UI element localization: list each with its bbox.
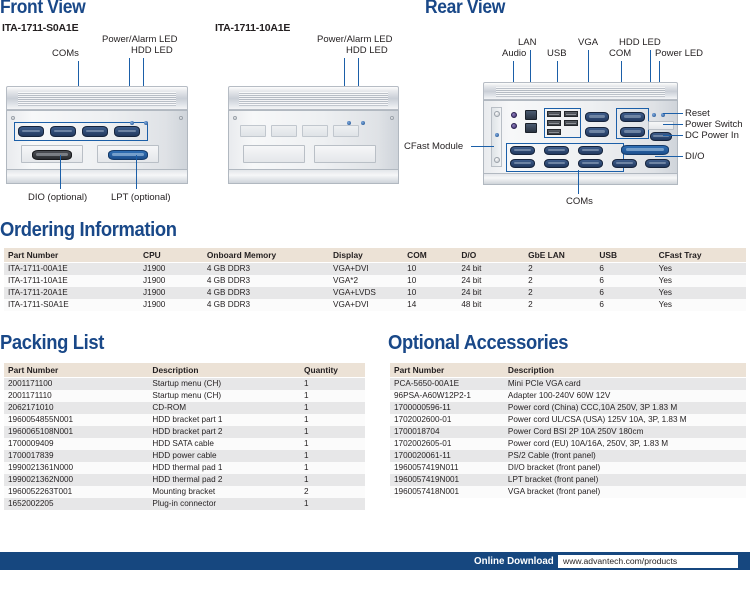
callout-rear-cfast-module: CFast Module (404, 141, 463, 152)
table-row: PCA-5650-00A1EMini PCIe VGA card (390, 378, 746, 391)
table-row: ITA-1711-00A1EJ19004 GB DDR3VGA+DVI1024 … (4, 263, 746, 276)
callout-rear-vga: VGA (578, 37, 598, 48)
accessory-col-header: Part Number (390, 363, 504, 378)
packing-cell: HDD SATA cable (148, 438, 300, 450)
vga-port-1 (585, 112, 609, 122)
ordering-cell: Yes (655, 299, 746, 311)
rear-dio-connector (621, 145, 669, 155)
rear-coms-port-5 (544, 159, 569, 168)
callout-rear-hdd-led: HDD LED (619, 37, 661, 48)
accessory-cell: 96PSA-A60W12P2-1 (390, 390, 504, 402)
leader-line-lpt (136, 155, 137, 189)
packing-col-header: Quantity (300, 363, 365, 378)
ordering-cell: ITA-1711-00A1E (4, 263, 139, 276)
callout-rear-dio: DI/O (685, 151, 705, 162)
rear-com-port-2 (620, 127, 645, 137)
packing-list-table-wrapper: Part NumberDescriptionQuantity 200117110… (4, 363, 365, 510)
screw-icon (11, 116, 15, 120)
lan-port-1 (525, 110, 537, 120)
packing-cell: Startup menu (CH) (148, 390, 300, 402)
table-row: 1990021362N000HDD thermal pad 21 (4, 474, 365, 486)
packing-cell: 2 (300, 486, 365, 498)
vga-port-2 (585, 127, 609, 137)
ordering-cell: J1900 (139, 299, 203, 311)
footer-bar: Online Download www.advantech.com/produc… (0, 552, 750, 570)
device-front-unit1 (6, 86, 188, 185)
table-row: ITA-1711-S0A1EJ19004 GB DDR3VGA+DVI1448 … (4, 299, 746, 311)
ordering-cell: VGA*2 (329, 275, 403, 287)
accessory-cell: LPT bracket (front panel) (504, 474, 746, 486)
packing-col-header: Part Number (4, 363, 148, 378)
ordering-cell: 24 bit (457, 287, 524, 299)
blank-slot-4 (333, 125, 359, 137)
screw-icon (494, 111, 500, 117)
dio-connector (32, 150, 72, 160)
rear-coms-port-6 (578, 159, 603, 168)
ordering-cell: J1900 (139, 275, 203, 287)
com-port-4 (114, 126, 140, 137)
accessory-cell: 1700018704 (390, 426, 504, 438)
section-heading-optional-accessories: Optional Accessories (388, 332, 568, 355)
ordering-cell: 10 (403, 287, 457, 299)
com-port-2 (50, 126, 76, 137)
rear-coms-port-8 (645, 159, 670, 168)
callout-rear-dc-power-in: DC Power In (685, 130, 739, 141)
rear-coms-port-7 (612, 159, 637, 168)
leader-line-dio (60, 155, 61, 189)
packing-cell: 1960054855N001 (4, 414, 148, 426)
chassis-front-face-unit1 (6, 110, 188, 170)
callout-rear-com: COM (609, 48, 631, 59)
usb-port-5 (547, 129, 561, 135)
table-row: 1652002205Plug-in connector1 (4, 498, 365, 510)
accessory-cell: Power cord (China) CCC,10A 250V, 3P 1.83… (504, 402, 746, 414)
model-label-unit1: ITA-1711-S0A1E (2, 22, 78, 34)
section-heading-front-view: Front View (0, 0, 85, 19)
packing-cell: 2001171110 (4, 390, 148, 402)
packing-cell: 1 (300, 414, 365, 426)
chassis-lid-unit1 (6, 86, 188, 110)
table-row: 1960052263T001Mounting bracket2 (4, 486, 365, 498)
callout-front-power-alarm-led: Power/Alarm LED (102, 34, 178, 45)
cfast-indicator (495, 133, 499, 137)
chassis-lid-rear (483, 82, 678, 100)
screw-icon (179, 116, 183, 120)
screw-icon (494, 157, 500, 163)
screw-icon (390, 116, 394, 120)
optional-accessories-table: Part NumberDescription PCA-5650-00A1EMin… (390, 363, 746, 498)
rear-coms-port-4 (510, 159, 535, 168)
table-row: 96PSA-A60W12P2-1Adapter 100-240V 60W 12V (390, 390, 746, 402)
ordering-cell: 14 (403, 299, 457, 311)
ordering-cell: Yes (655, 263, 746, 276)
table-header-row: Part NumberCPUOnboard MemoryDisplayCOMD/… (4, 248, 746, 263)
hdd-led-indicator (144, 121, 148, 125)
callout-front2-hdd-led: HDD LED (346, 45, 388, 56)
ordering-information-table: Part NumberCPUOnboard MemoryDisplayCOMD/… (4, 248, 746, 311)
footer-url[interactable]: www.advantech.com/products (558, 555, 738, 568)
packing-cell: 1 (300, 390, 365, 402)
leader-line-rear-coms (578, 170, 579, 194)
ordering-cell: 10 (403, 263, 457, 276)
chassis-rear-face (483, 100, 678, 174)
packing-cell: HDD power cable (148, 450, 300, 462)
packing-cell: Startup menu (CH) (148, 378, 300, 391)
ordering-cell: 4 GB DDR3 (203, 287, 329, 299)
ordering-cell: 48 bit (457, 299, 524, 311)
callout-rear-audio: Audio (502, 48, 526, 59)
chassis-base-unit2 (228, 170, 399, 184)
accessory-cell: Adapter 100-240V 60W 12V (504, 390, 746, 402)
ordering-col-header: GbE LAN (524, 248, 595, 263)
ordering-cell: 4 GB DDR3 (203, 275, 329, 287)
table-row: 2062171010CD-ROM1 (4, 402, 365, 414)
packing-cell: 1652002205 (4, 498, 148, 510)
section-heading-rear-view: Rear View (425, 0, 505, 19)
audio-jack-1 (511, 112, 517, 118)
ordering-col-header: Part Number (4, 248, 139, 263)
table-row: 1960065108N001HDD bracket part 21 (4, 426, 365, 438)
ordering-cell: J1900 (139, 287, 203, 299)
packing-cell: 1700017839 (4, 450, 148, 462)
rear-coms-port-3 (578, 146, 603, 155)
accessory-cell: 1700020061-11 (390, 450, 504, 462)
ordering-information-table-wrapper: Part NumberCPUOnboard MemoryDisplayCOMD/… (4, 248, 746, 311)
table-row: 1702002605-01Power cord (EU) 10A/16A, 25… (390, 438, 746, 450)
packing-cell: HDD bracket part 1 (148, 414, 300, 426)
table-row: 2001171100Startup menu (CH)1 (4, 378, 365, 391)
ordering-col-header: D/O (457, 248, 524, 263)
optional-accessories-table-wrapper: Part NumberDescription PCA-5650-00A1EMin… (390, 363, 746, 498)
audio-jack-2 (511, 123, 517, 129)
ordering-col-header: CFast Tray (655, 248, 746, 263)
accessory-cell: Power cord UL/CSA (USA) 125V 10A, 3P, 1.… (504, 414, 746, 426)
packing-cell: Mounting bracket (148, 486, 300, 498)
dio-bracket-panel (21, 145, 83, 163)
rear-coms-port-1 (510, 146, 535, 155)
packing-cell: 1 (300, 450, 365, 462)
reset-power-switch-panel (648, 121, 674, 130)
section-heading-packing-list: Packing List (0, 332, 104, 355)
power-alarm-led-indicator-2 (347, 121, 351, 125)
rear-hdd-led-indicator (652, 113, 656, 117)
chassis-vent-unit1 (18, 92, 176, 107)
ordering-cell: 10 (403, 275, 457, 287)
ordering-cell: 2 (524, 299, 595, 311)
blank-slot-2 (271, 125, 297, 137)
chassis-base-rear (483, 174, 678, 185)
callout-front-lpt: LPT (optional) (111, 192, 171, 203)
packing-cell: 1960065108N001 (4, 426, 148, 438)
lpt-bracket-panel (97, 145, 159, 163)
blank-slot-1 (240, 125, 266, 137)
rear-coms-port-2 (544, 146, 569, 155)
accessory-cell: 1960057418N001 (390, 486, 504, 498)
packing-cell: 1 (300, 426, 365, 438)
table-row: 1700018704Power Cord BSI 2P 10A 250V 180… (390, 426, 746, 438)
callout-rear-usb: USB (547, 48, 567, 59)
ordering-cell: ITA-1711-S0A1E (4, 299, 139, 311)
accessory-cell: 1960057419N011 (390, 462, 504, 474)
table-row: 1700020061-11PS/2 Cable (front panel) (390, 450, 746, 462)
usb-port-3 (547, 120, 561, 126)
ordering-cell: 2 (524, 287, 595, 299)
packing-cell: 1 (300, 438, 365, 450)
ordering-cell: 24 bit (457, 275, 524, 287)
device-rear-unit (483, 82, 678, 186)
ordering-cell: 2 (524, 263, 595, 276)
ordering-col-header: Display (329, 248, 403, 263)
blank-bracket-panel-2 (314, 145, 376, 163)
packing-cell: 1700009409 (4, 438, 148, 450)
ordering-cell: Yes (655, 287, 746, 299)
power-alarm-led-indicator (130, 121, 134, 125)
packing-cell: Plug-in connector (148, 498, 300, 510)
leader-line-cfast-module (471, 146, 494, 147)
table-row: 1960057419N011DI/O bracket (front panel) (390, 462, 746, 474)
ordering-cell: J1900 (139, 263, 203, 276)
packing-cell: HDD bracket part 2 (148, 426, 300, 438)
table-row: 1960057418N001VGA bracket (front panel) (390, 486, 746, 498)
com-port-1 (18, 126, 44, 137)
dc-power-in-connector (650, 132, 672, 141)
packing-list-table: Part NumberDescriptionQuantity 200117110… (4, 363, 365, 510)
table-header-row: Part NumberDescription (390, 363, 746, 378)
accessory-cell: VGA bracket (front panel) (504, 486, 746, 498)
leader-line-dc-power-in (663, 135, 683, 136)
ordering-cell: VGA+LVDS (329, 287, 403, 299)
footer-label: Online Download (474, 555, 554, 567)
packing-cell: 2062171010 (4, 402, 148, 414)
packing-cell: CD-ROM (148, 402, 300, 414)
accessory-cell: Mini PCIe VGA card (504, 378, 746, 391)
callout-rear-lan: LAN (518, 37, 536, 48)
chassis-vent-unit2 (239, 92, 388, 107)
table-row: ITA-1711-10A1EJ19004 GB DDR3VGA*21024 bi… (4, 275, 746, 287)
ordering-cell: 6 (595, 299, 654, 311)
table-row: 1960057419N001LPT bracket (front panel) (390, 474, 746, 486)
packing-cell: 1 (300, 378, 365, 391)
accessory-cell: 1702002600-01 (390, 414, 504, 426)
packing-cell: 1 (300, 402, 365, 414)
accessory-cell: PS/2 Cable (front panel) (504, 450, 746, 462)
packing-cell: 1 (300, 498, 365, 510)
datasheet-page: Front View Rear View ITA-1711-S0A1E COMs… (0, 0, 750, 591)
ordering-cell: VGA+DVI (329, 263, 403, 276)
table-row: 1960054855N001HDD bracket part 11 (4, 414, 365, 426)
accessory-cell: 1700000596-11 (390, 402, 504, 414)
table-row: 1700000596-11Power cord (China) CCC,10A … (390, 402, 746, 414)
ordering-cell: 6 (595, 287, 654, 299)
model-label-unit2: ITA-1711-10A1E (215, 22, 290, 34)
table-row: 1700009409HDD SATA cable1 (4, 438, 365, 450)
packing-cell: 1 (300, 474, 365, 486)
callout-rear-coms: COMs (566, 196, 593, 207)
ordering-cell: VGA+DVI (329, 299, 403, 311)
footer-online-download: Online Download www.advantech.com/produc… (468, 552, 738, 570)
accessory-col-header: Description (504, 363, 746, 378)
chassis-base-unit1 (6, 170, 188, 184)
ordering-cell: 2 (524, 275, 595, 287)
ordering-col-header: USB (595, 248, 654, 263)
ordering-cell: ITA-1711-10A1E (4, 275, 139, 287)
table-row: 1990021361N000HDD thermal pad 11 (4, 462, 365, 474)
ordering-col-header: CPU (139, 248, 203, 263)
ordering-cell: 4 GB DDR3 (203, 299, 329, 311)
cfast-module-slot (491, 107, 502, 167)
leader-line-reset (663, 113, 683, 114)
screw-icon (233, 116, 237, 120)
callout-rear-power-led: Power LED (655, 48, 703, 59)
com-port-3 (82, 126, 108, 137)
packing-cell: HDD thermal pad 1 (148, 462, 300, 474)
packing-cell: 1960052263T001 (4, 486, 148, 498)
table-row: 2001171110Startup menu (CH)1 (4, 390, 365, 402)
chassis-vent-rear (496, 87, 666, 98)
rear-com-port-1 (620, 112, 645, 122)
callout-rear-power-switch: Power Switch (685, 119, 743, 130)
ordering-cell: 6 (595, 275, 654, 287)
usb-port-2 (564, 111, 578, 117)
usb-port-4 (564, 120, 578, 126)
ordering-cell: 6 (595, 263, 654, 276)
callout-front2-power-alarm-led: Power/Alarm LED (317, 34, 393, 45)
leader-line-rear-dio (655, 156, 683, 157)
accessory-cell: 1960057419N001 (390, 474, 504, 486)
lan-port-2 (525, 123, 537, 133)
device-front-unit2 (228, 86, 399, 185)
callout-front-hdd-led: HDD LED (131, 45, 173, 56)
ordering-col-header: COM (403, 248, 457, 263)
packing-cell: 1 (300, 462, 365, 474)
callout-front-coms: COMs (52, 48, 79, 59)
accessory-cell: 1702002605-01 (390, 438, 504, 450)
usb-port-1 (547, 111, 561, 117)
blank-slot-3 (302, 125, 328, 137)
accessory-cell: Power cord (EU) 10A/16A, 250V, 3P, 1.83 … (504, 438, 746, 450)
section-heading-ordering-information: Ordering Information (0, 219, 177, 242)
chassis-lid-unit2 (228, 86, 399, 110)
accessory-cell: Power Cord BSI 2P 10A 250V 180cm (504, 426, 746, 438)
callout-front-dio: DIO (optional) (28, 192, 87, 203)
table-row: ITA-1711-20A1EJ19004 GB DDR3VGA+LVDS1024… (4, 287, 746, 299)
accessory-cell: DI/O bracket (front panel) (504, 462, 746, 474)
spacer (584, 109, 585, 110)
ordering-cell: Yes (655, 275, 746, 287)
packing-col-header: Description (148, 363, 300, 378)
lpt-connector (108, 150, 148, 160)
ordering-cell: 4 GB DDR3 (203, 263, 329, 276)
table-header-row: Part NumberDescriptionQuantity (4, 363, 365, 378)
table-row: 1700017839HDD power cable1 (4, 450, 365, 462)
chassis-front-face-unit2 (228, 110, 399, 170)
ordering-cell: 24 bit (457, 263, 524, 276)
table-row: 1702002600-01Power cord UL/CSA (USA) 125… (390, 414, 746, 426)
ordering-cell: ITA-1711-20A1E (4, 287, 139, 299)
hdd-led-indicator-2 (361, 121, 365, 125)
ordering-col-header: Onboard Memory (203, 248, 329, 263)
accessory-cell: PCA-5650-00A1E (390, 378, 504, 391)
leader-line-power-switch (663, 124, 683, 125)
blank-bracket-panel-1 (243, 145, 305, 163)
packing-cell: 1990021361N000 (4, 462, 148, 474)
packing-cell: 2001171100 (4, 378, 148, 391)
packing-cell: 1990021362N000 (4, 474, 148, 486)
packing-cell: HDD thermal pad 2 (148, 474, 300, 486)
callout-rear-reset: Reset (685, 108, 710, 119)
